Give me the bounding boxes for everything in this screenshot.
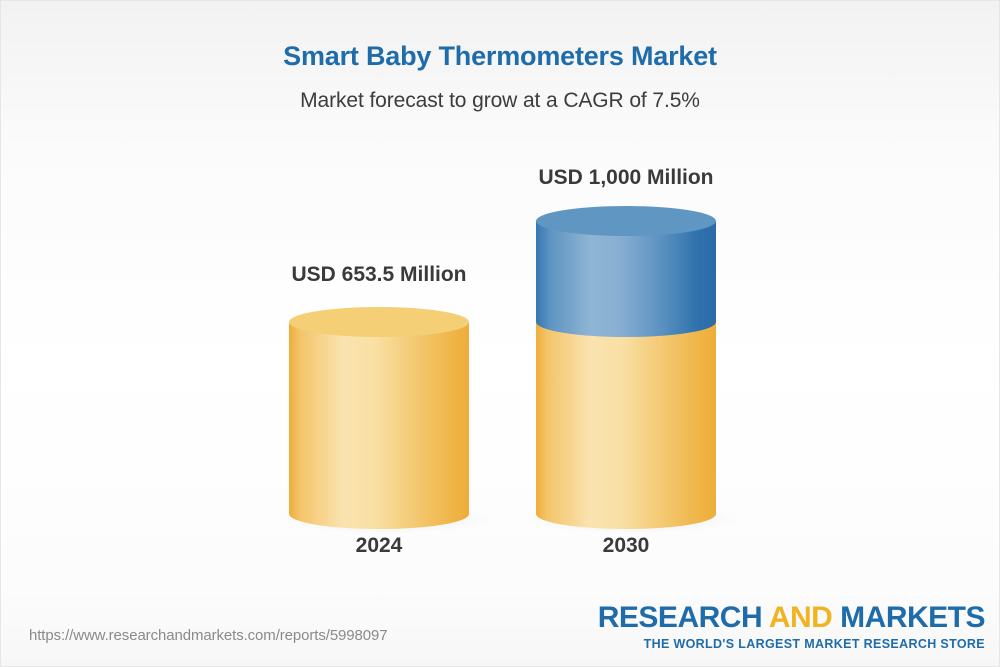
logo-tagline: THE WORLD'S LARGEST MARKET RESEARCH STOR… — [598, 638, 985, 651]
logo-wordmark: RESEARCH AND MARKETS — [598, 603, 985, 633]
bar-2024-top-cap — [289, 307, 469, 337]
bar-2030-top-cap — [536, 206, 716, 236]
x-axis-label-2024: 2024 — [279, 534, 479, 558]
logo-word-research: RESEARCH — [598, 601, 762, 634]
bar-2024-body — [289, 322, 469, 529]
research-and-markets-logo: RESEARCH AND MARKETS THE WORLD'S LARGEST… — [598, 603, 985, 651]
bar-2030-segment-base — [536, 322, 716, 529]
logo-word-and: AND — [762, 601, 832, 634]
logo-word-markets: MARKETS — [832, 601, 985, 634]
bar-2024 — [278, 307, 494, 534]
chart-canvas: Smart Baby Thermometers Market Market fo… — [0, 0, 1000, 667]
bar-2030-value-label: USD 1,000 Million — [526, 166, 726, 190]
source-url[interactable]: https://www.researchandmarkets.com/repor… — [29, 627, 388, 644]
bar-chart-plot — [1, 1, 1000, 667]
bar-2024-value-label: USD 653.5 Million — [279, 263, 479, 287]
x-axis-label-2030: 2030 — [526, 534, 726, 558]
bar-2030-segment-growth — [536, 221, 716, 337]
bar-2030 — [525, 206, 741, 534]
